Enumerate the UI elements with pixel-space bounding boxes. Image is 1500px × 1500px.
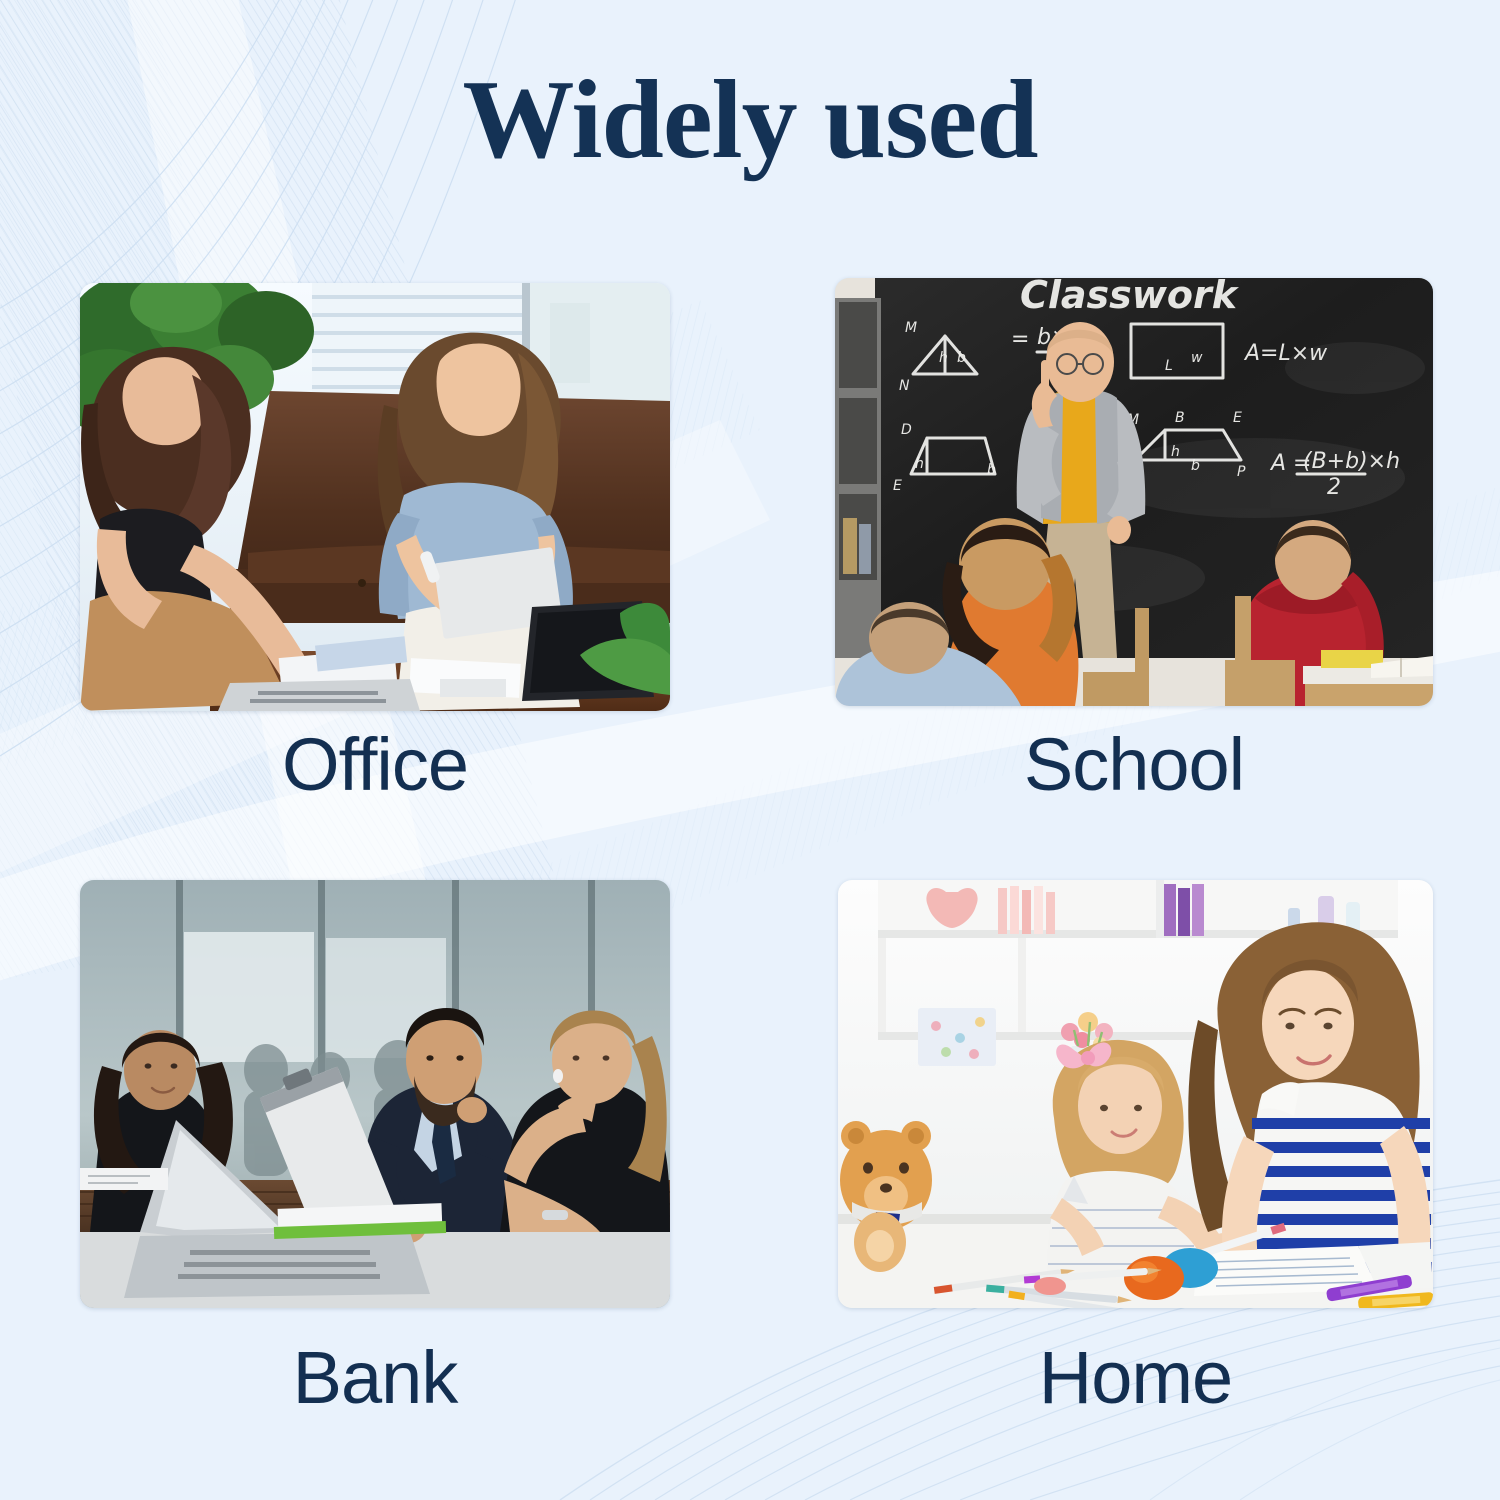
svg-text:=: =	[1011, 327, 1029, 352]
bank-scene-illustration	[80, 880, 670, 1308]
card-school[interactable]: Classwork Mh bN Dh Eb Lw MB EN Ph b = b×…	[835, 278, 1433, 706]
svg-text:b: b	[1191, 458, 1200, 474]
label-office: Office	[80, 722, 670, 807]
office-scene-illustration	[80, 283, 670, 711]
photo-school: Classwork Mh bN Dh Eb Lw MB EN Ph b = b×…	[835, 278, 1433, 706]
card-office[interactable]	[80, 283, 670, 711]
home-scene-illustration	[838, 880, 1433, 1308]
photo-home	[838, 880, 1433, 1308]
svg-text:w: w	[1191, 350, 1203, 366]
card-home[interactable]	[838, 880, 1433, 1308]
chalkboard-heading: Classwork	[1020, 278, 1240, 317]
photo-bank	[80, 880, 670, 1308]
photo-office	[80, 283, 670, 711]
svg-text:h: h	[1171, 444, 1180, 460]
svg-text:M: M	[905, 320, 917, 336]
card-bank[interactable]	[80, 880, 670, 1308]
svg-text:P: P	[1237, 464, 1246, 480]
label-home: Home	[838, 1335, 1433, 1420]
svg-text:D: D	[901, 422, 912, 438]
svg-text:E: E	[893, 478, 902, 494]
svg-text:B: B	[1175, 410, 1185, 426]
svg-text:L: L	[1165, 358, 1173, 374]
svg-text:2: 2	[1327, 475, 1341, 500]
svg-text:b: b	[957, 350, 966, 366]
svg-text:(B+b)×h: (B+b)×h	[1303, 449, 1400, 474]
svg-text:h: h	[915, 456, 924, 472]
svg-text:b: b	[987, 462, 996, 478]
label-bank: Bank	[80, 1335, 670, 1420]
svg-text:A=L×w: A=L×w	[1243, 341, 1328, 366]
svg-text:N: N	[899, 378, 910, 394]
svg-text:h: h	[939, 350, 948, 366]
label-school: School	[835, 722, 1433, 807]
school-scene-illustration: Classwork Mh bN Dh Eb Lw MB EN Ph b = b×…	[835, 278, 1433, 706]
svg-text:E: E	[1233, 410, 1242, 426]
page-title: Widely used	[0, 62, 1500, 180]
